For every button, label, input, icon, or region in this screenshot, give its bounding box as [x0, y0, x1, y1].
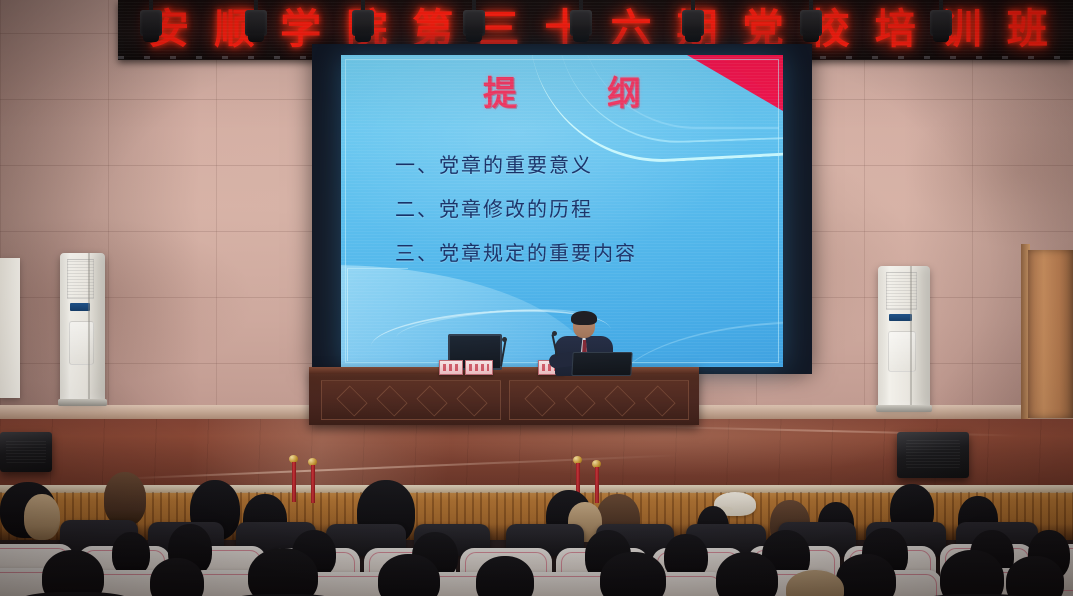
stage-light-fixture [245, 0, 267, 50]
ac-base [876, 405, 932, 412]
light-lens [143, 34, 159, 42]
exit-door[interactable] [1028, 250, 1073, 418]
name-placard-2 [465, 360, 493, 375]
wall-white-panel [0, 258, 20, 398]
audience-head [600, 552, 666, 596]
audience-head [248, 548, 318, 596]
table-panel-right [509, 380, 689, 420]
audience-head [940, 550, 1004, 596]
panel-diamond [416, 385, 447, 416]
stage-light-fixture [930, 0, 952, 50]
audience-head [836, 554, 896, 596]
slide-title: 提 纲 [341, 77, 783, 111]
ac-display [70, 303, 90, 310]
ac-grille [886, 272, 917, 311]
audience-area [0, 472, 1073, 596]
panel-diamond [376, 385, 407, 416]
table-panel-left [321, 380, 501, 420]
slide-outline-item-3: 三、党章规定的重要内容 [395, 243, 755, 263]
panel-diamond [456, 385, 487, 416]
name-placard-1 [439, 360, 463, 375]
stage-light-fixture [140, 0, 162, 50]
panel-diamond [524, 385, 555, 416]
light-lens [685, 34, 701, 42]
air-conditioner-left [60, 253, 105, 401]
speaker-table [309, 367, 699, 425]
light-lens [355, 34, 371, 42]
panel-diamond [604, 385, 635, 416]
ac-display [889, 314, 912, 321]
panel-diamond [336, 385, 367, 416]
slide-corner-frame [347, 268, 408, 361]
audience-head [476, 556, 534, 596]
laptop-presenter[interactable] [571, 352, 632, 376]
panel-diamond [564, 385, 595, 416]
slide-outline-item-2: 二、党章修改的历程 [395, 199, 755, 219]
light-body [930, 10, 952, 36]
air-conditioner-right [878, 266, 930, 407]
led-char-13: 班 [1007, 9, 1048, 50]
microphone-head-left [502, 337, 507, 342]
audience-head [24, 494, 60, 540]
stage-light-fixture [352, 0, 374, 50]
light-body [570, 10, 592, 36]
presenter-hair [571, 311, 597, 325]
table-top-edge [309, 367, 699, 374]
audience-head [716, 552, 778, 596]
light-body [352, 10, 374, 36]
floor-monitor-left [0, 432, 52, 472]
placard-text [469, 364, 489, 371]
audience-head [1006, 556, 1064, 596]
light-body [800, 10, 822, 36]
light-lens [248, 34, 264, 42]
light-body [463, 10, 485, 36]
slide-wave-bottom-right [613, 321, 783, 367]
microphone-head-presenter [552, 331, 557, 336]
placard-text [443, 364, 459, 371]
slide-outline-item-1: 一、党章的重要意义 [395, 155, 755, 175]
audience-head [104, 472, 146, 526]
light-body [245, 10, 267, 36]
stage-light-fixture [463, 0, 485, 50]
stage-light-fixture [682, 0, 704, 50]
panel-diamond [644, 385, 675, 416]
light-body [140, 10, 162, 36]
ac-base [58, 399, 107, 406]
ac-grille [67, 259, 94, 299]
ac-seam [910, 266, 912, 407]
light-lens [573, 34, 589, 42]
stage-light-fixture [800, 0, 822, 50]
light-lens [466, 34, 482, 42]
light-body [682, 10, 704, 36]
audience-head [378, 554, 440, 596]
audience-head [42, 550, 104, 596]
stage-light-fixture [570, 0, 592, 50]
ac-seam [88, 253, 90, 401]
audience-head [150, 558, 204, 596]
light-lens [933, 34, 949, 42]
slide-outline-list: 一、党章的重要意义 二、党章修改的历程 三、党章规定的重要内容 [395, 155, 755, 263]
light-lens [803, 34, 819, 42]
lecture-hall-photo: 安 顺 学 院 第 三 十 六 期 党 校 培 训 班 [0, 0, 1073, 596]
led-char-11: 培 [875, 9, 916, 50]
